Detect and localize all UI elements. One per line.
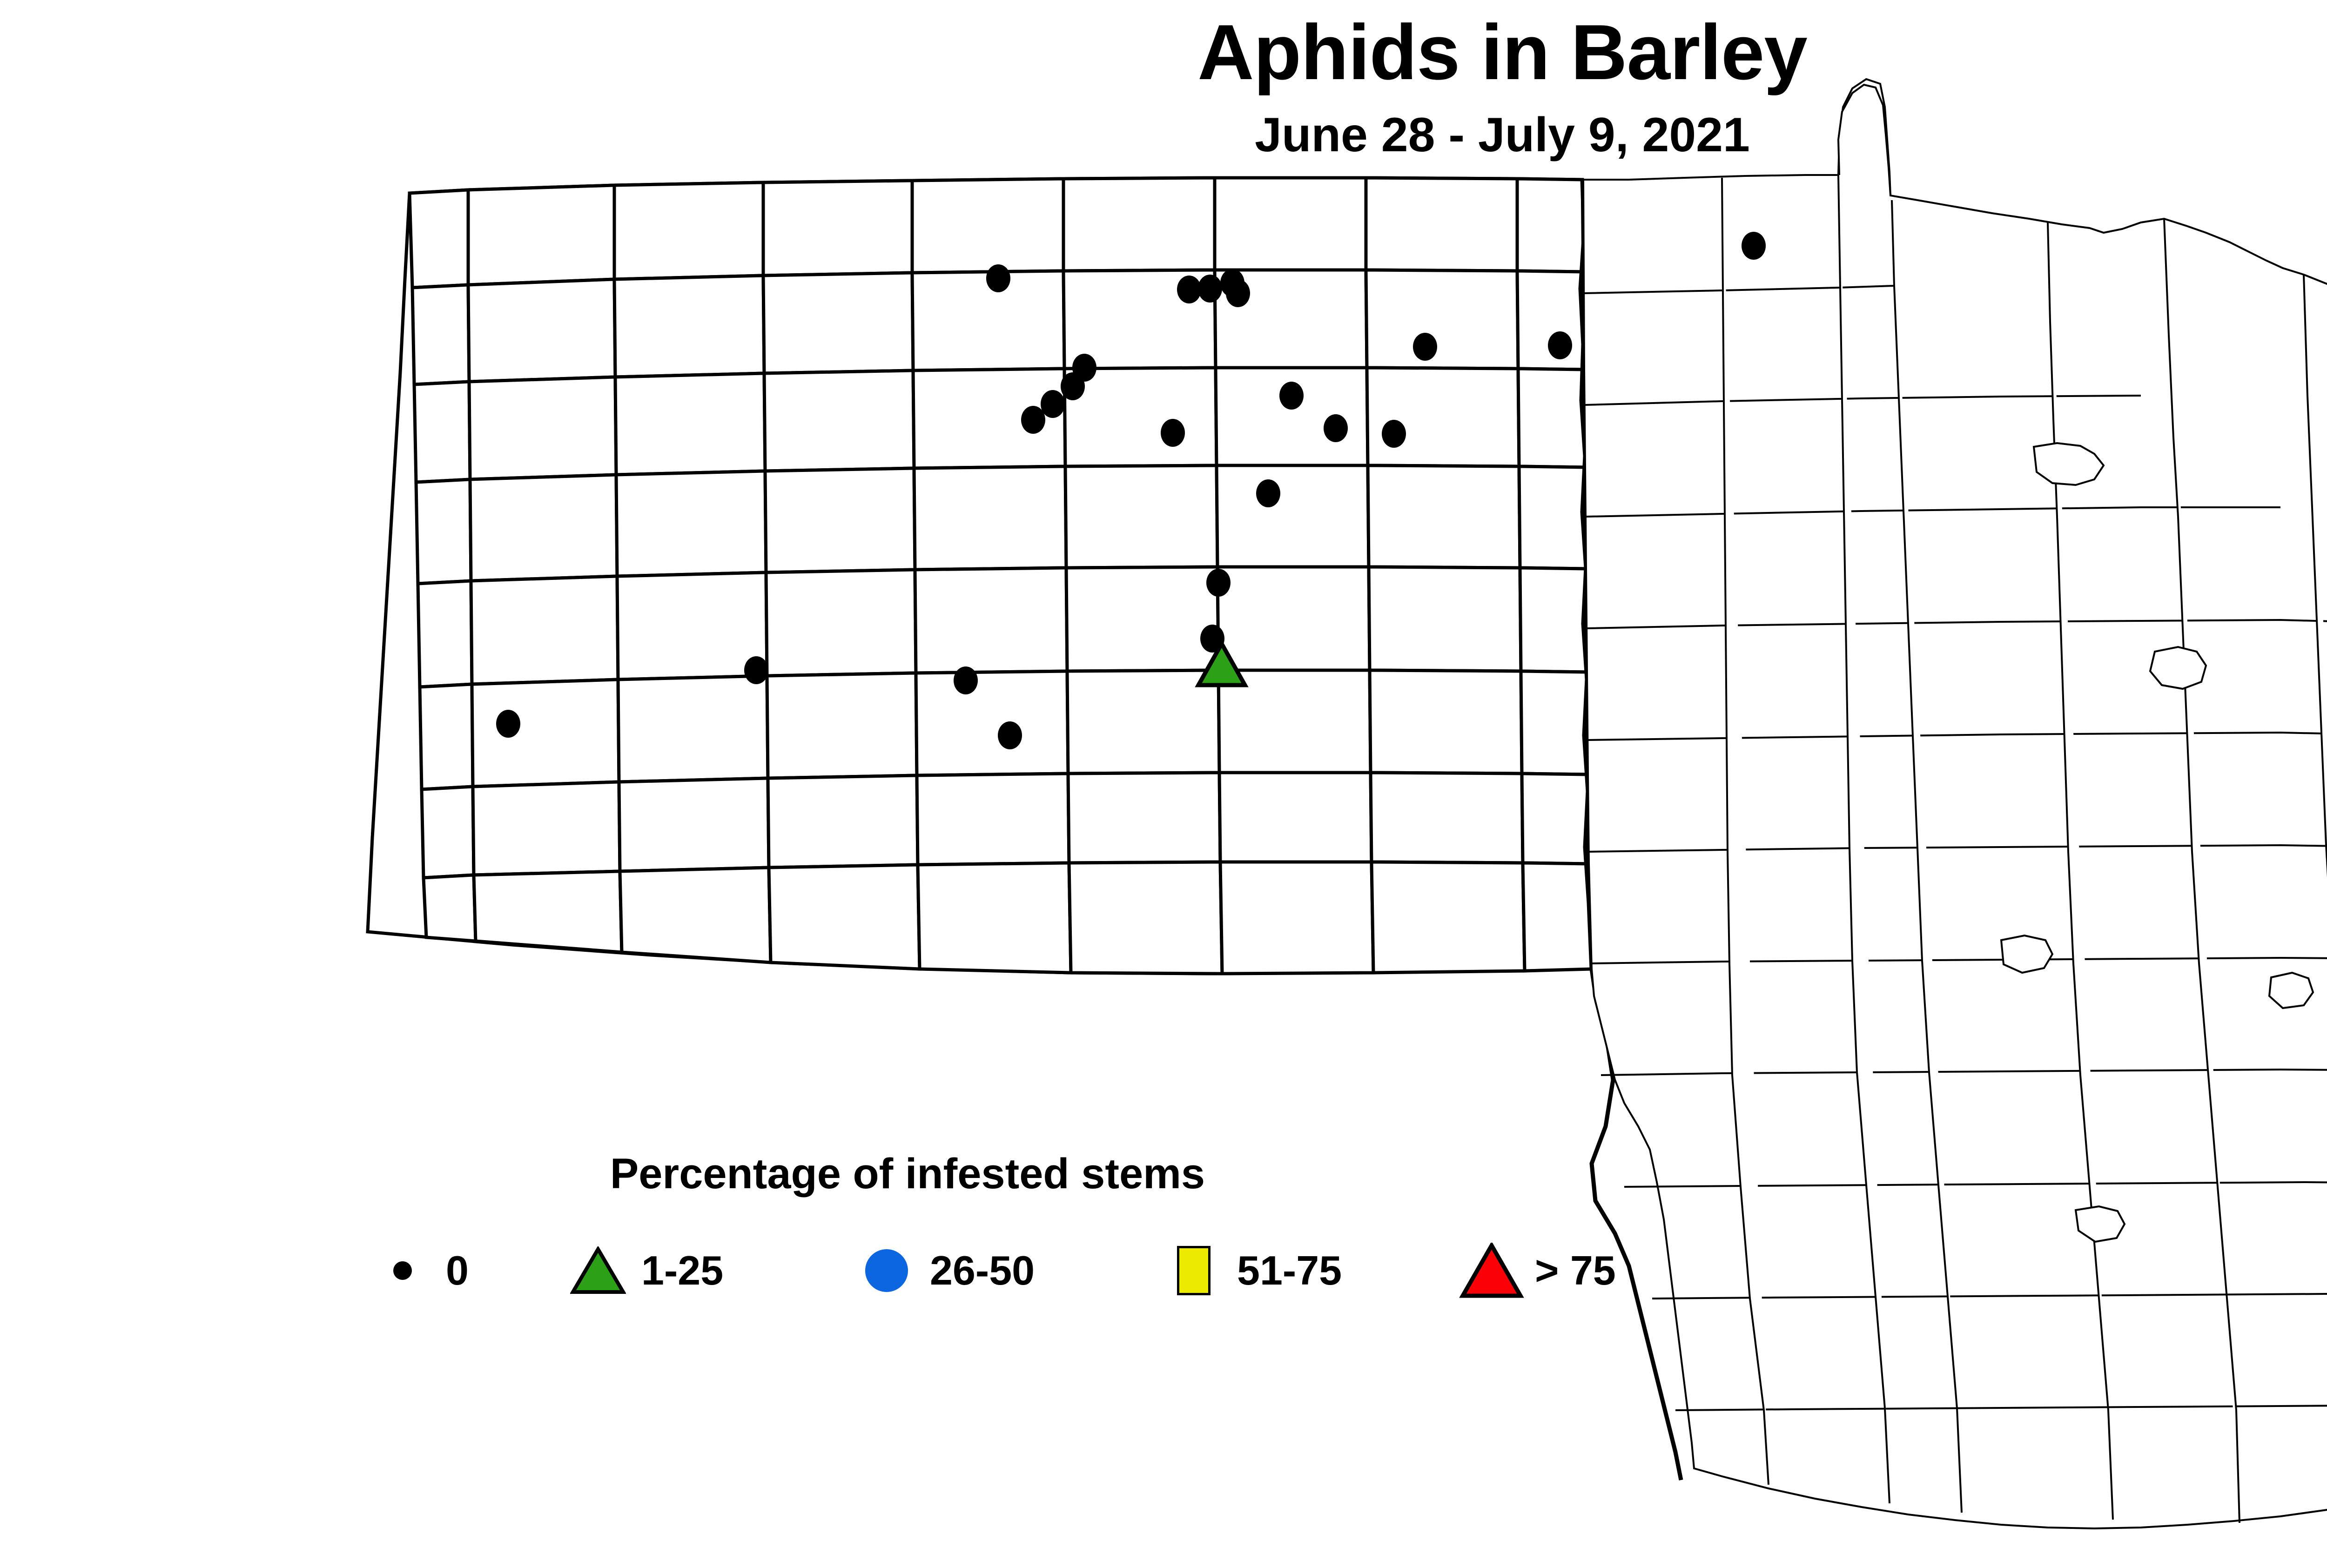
legend-label-0: 0 xyxy=(446,1247,469,1294)
marker-dot xyxy=(496,710,520,738)
legend-triangle-green-icon xyxy=(563,1246,633,1295)
marker-dot xyxy=(1177,276,1201,303)
legend-item-3[interactable]: 51-75 xyxy=(1159,1224,1342,1317)
marker-dot xyxy=(986,264,1010,292)
marker-dot xyxy=(1061,372,1085,400)
marker-dot xyxy=(1206,569,1231,597)
marker-dot xyxy=(1413,333,1437,361)
map-canvas xyxy=(0,0,2327,1568)
legend-item-4[interactable]: > 75 xyxy=(1457,1224,1616,1317)
legend-square-yellow-icon xyxy=(1159,1246,1229,1295)
marker-dot xyxy=(1279,382,1304,410)
marker-dot xyxy=(1548,331,1572,359)
legend-label-1: 1-25 xyxy=(641,1247,723,1294)
legend-title: Percentage of infested stems xyxy=(419,1150,1396,1198)
legend-circle-blue-icon xyxy=(852,1249,921,1292)
legend-label-2: 26-50 xyxy=(930,1247,1035,1294)
marker-dot xyxy=(1324,414,1348,442)
legend-label-4: > 75 xyxy=(1535,1247,1616,1294)
legend-item-0[interactable]: 0 xyxy=(368,1224,469,1317)
marker-dot xyxy=(1742,232,1766,260)
marker-dot xyxy=(1226,279,1250,307)
legend-item-2[interactable]: 26-50 xyxy=(852,1224,1035,1317)
marker-dot xyxy=(954,666,978,694)
legend-dot-icon xyxy=(368,1261,437,1280)
marker-dot xyxy=(1382,420,1406,448)
legend-triangle-red-icon xyxy=(1457,1243,1527,1299)
legend-row: 0 1-25 26-50 51-75 > 75 xyxy=(0,1224,2327,1317)
marker-dot xyxy=(1256,479,1280,507)
marker-dot xyxy=(1198,275,1222,303)
states-map xyxy=(0,0,2327,1568)
legend-item-1[interactable]: 1-25 xyxy=(563,1224,723,1317)
marker-dot xyxy=(998,721,1022,749)
marker-dot xyxy=(1161,419,1185,447)
marker-dot xyxy=(1041,390,1065,418)
marker-dot xyxy=(744,656,768,684)
legend-label-3: 51-75 xyxy=(1237,1247,1342,1294)
marker-dot xyxy=(1021,406,1045,434)
